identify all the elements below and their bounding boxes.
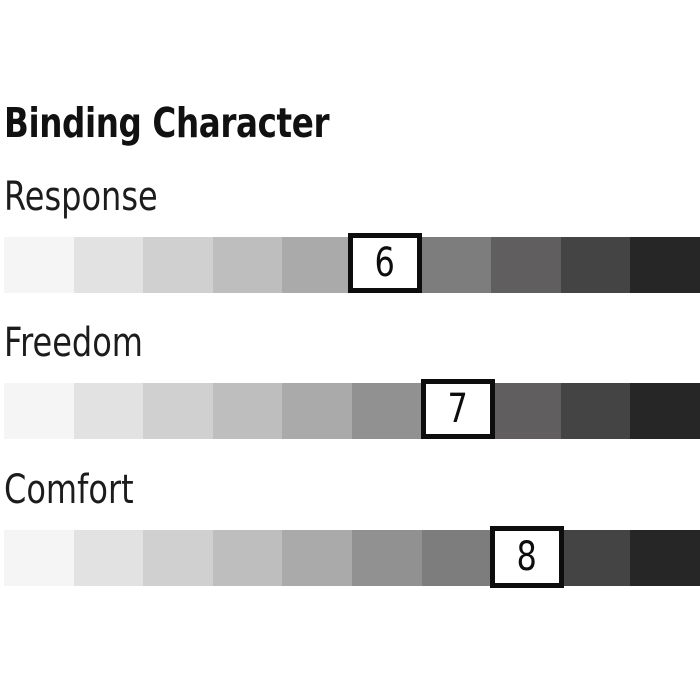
- scale-segment-4: [213, 237, 283, 293]
- scale-segment-7: [422, 530, 492, 586]
- scale-segment-8: [491, 383, 561, 439]
- gradient-scale-comfort: [4, 530, 700, 586]
- scale-segment-10: [630, 237, 700, 293]
- scale-segment-10: [630, 530, 700, 586]
- scale-segment-4: [213, 383, 283, 439]
- scale-segment-9: [561, 530, 631, 586]
- scale-row-comfort: Comfort 8: [0, 469, 700, 591]
- scale-segment-2: [74, 237, 144, 293]
- scale-segment-3: [143, 237, 213, 293]
- scale-row-label-response: Response: [4, 176, 158, 218]
- scale-row-response: Response 6: [0, 176, 700, 296]
- scale-segment-1: [4, 383, 74, 439]
- scale-segment-3: [143, 383, 213, 439]
- value-marker-label-response: 6: [375, 243, 395, 283]
- value-marker-freedom: 7: [421, 379, 495, 439]
- binding-character-chart: Binding Character Response 6 Freedom: [0, 0, 700, 700]
- scale-segment-4: [213, 530, 283, 586]
- scale-segment-7: [422, 237, 492, 293]
- scale-segment-3: [143, 530, 213, 586]
- scale-segment-2: [74, 383, 144, 439]
- scale-segment-9: [561, 237, 631, 293]
- scale-segment-5: [282, 530, 352, 586]
- scale-segment-5: [282, 237, 352, 293]
- scale-segment-9: [561, 383, 631, 439]
- scale-segment-2: [74, 530, 144, 586]
- scale-row-label-comfort: Comfort: [4, 469, 134, 511]
- scale-segment-6: [352, 383, 422, 439]
- gradient-scale-freedom: [4, 383, 700, 439]
- value-marker-label-freedom: 7: [448, 389, 468, 429]
- scale-segment-6: [352, 530, 422, 586]
- scale-segment-10: [630, 383, 700, 439]
- chart-title: Binding Character: [4, 101, 329, 145]
- scale-segment-5: [282, 383, 352, 439]
- scale-row-freedom: Freedom 7: [0, 322, 700, 442]
- scale-segment-8: [491, 237, 561, 293]
- value-marker-comfort: 8: [490, 526, 564, 588]
- scale-segment-1: [4, 237, 74, 293]
- scale-row-label-freedom: Freedom: [4, 322, 143, 364]
- scale-segment-1: [4, 530, 74, 586]
- value-marker-response: 6: [348, 233, 422, 293]
- value-marker-label-comfort: 8: [517, 537, 537, 577]
